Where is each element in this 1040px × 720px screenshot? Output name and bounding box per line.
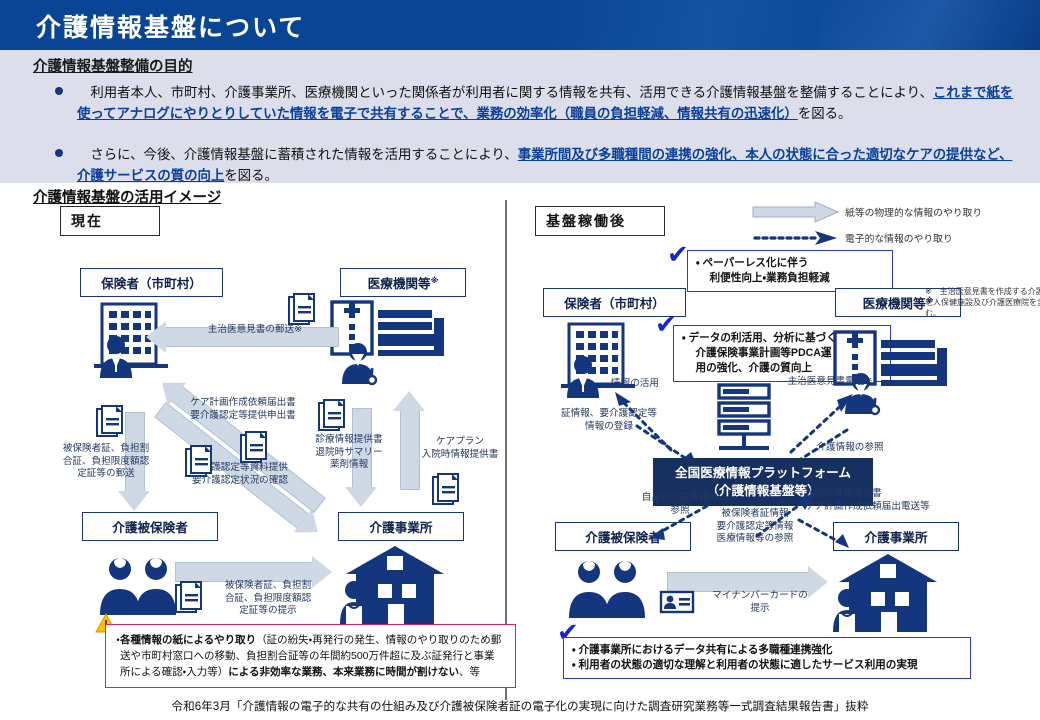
document-stack-icon bbox=[318, 398, 348, 434]
callout-paperless-line2: 利便性向上・業務負担軽減 bbox=[696, 271, 884, 286]
purpose-bullet-1-text: 利用者本人、市町村、介護事業所、医療機関といった関係者が利用者に関する情報を共有… bbox=[77, 83, 1020, 124]
purpose-heading: 介護情報基盤整備の目的 bbox=[33, 55, 193, 76]
callout-benefits-line2: ・ 利用者の状態の適切な理解と利用者の状態に適したサービス利用の実現 bbox=[572, 658, 962, 673]
platform-line1: 全国医療情報プラットフォーム bbox=[663, 464, 863, 482]
document-stack-icon bbox=[432, 472, 462, 508]
document-stack-icon bbox=[288, 292, 318, 328]
phase-label-current: 現在 bbox=[60, 206, 160, 236]
bullet-dot-icon bbox=[55, 87, 63, 95]
label-register-info: 証情報、要介護認定等 情報の登録 bbox=[539, 408, 679, 433]
label-hospital-info: 入院時情報提供書 ケア計画作成依頼届出電送等 bbox=[805, 488, 1025, 513]
label-care-info-reference: 介護情報の参照 bbox=[785, 442, 915, 455]
label-info-use: 情報の活用 bbox=[585, 378, 685, 391]
label-mynumber-present: マイナンバーカードの 提示 bbox=[695, 590, 825, 615]
callout-paperless-line1: ・ ペーパーレス化に伴う bbox=[696, 256, 884, 271]
medical-footnote: ※ 主治医意見書を作成する介護老人保健施設及び介護医療院を含む。 bbox=[925, 286, 1040, 319]
care-facility-house-icon bbox=[340, 544, 450, 626]
callout-benefits-line1: ・ 介護事業所におけるデータ共有による多職種連携強化 bbox=[572, 643, 962, 658]
current-issues-box: ・ 各種情報の紙によるやり取り（証の紛失・再発行の発生、情報のやり取りのため郵送… bbox=[105, 624, 516, 688]
document-stack-icon bbox=[240, 430, 270, 466]
purpose-bullet-1: 利用者本人、市町村、介護事業所、医療機関といった関係者が利用者に関する情報を共有… bbox=[55, 83, 1020, 124]
entity-provider-left: 介護事業所 bbox=[338, 512, 464, 541]
bullet-dot-icon bbox=[55, 149, 63, 157]
purpose-bullet-2-text: さらに、今後、介護情報基盤に蓄積された情報を活用することにより、事業所間及び多職… bbox=[77, 145, 1020, 186]
slide-header: 介護情報基盤について bbox=[0, 0, 1040, 50]
arrow-doctor-opinion-send bbox=[765, 378, 885, 470]
left-panel-current: 現在 保険者（市町村） 医療機関等※ 介護被保険者 介護事業所 bbox=[20, 200, 505, 700]
insured-persons-icon bbox=[567, 558, 653, 620]
label-cert-reference: 被保険者証情報 要介護認定等情報 医療情報等の参照 bbox=[687, 508, 823, 546]
right-panel-after: 基盤稼働後 ✔ ・ ペーパーレス化に伴う 利便性向上・業務負担軽減 保険者（市町… bbox=[515, 200, 1030, 700]
phase-label-after: 基盤稼働後 bbox=[535, 206, 665, 236]
hospital-building-icon bbox=[330, 298, 450, 386]
purpose-panel: 介護情報基盤整備の目的 利用者本人、市町村、介護事業所、医療機関といった関係者が… bbox=[0, 50, 1040, 185]
label-care-plan: ケアプラン 入院時情報提供書 bbox=[410, 436, 510, 461]
label-medical-docs: 診療情報提供書 退院時サマリー 薬剤情報 bbox=[302, 434, 396, 472]
list-bullet-icon: ・ bbox=[112, 632, 124, 648]
arrow-certificate-present bbox=[175, 562, 313, 582]
label-care-plan-request: ケア計画作成依頼届出書 要介護認定等提供申出書 bbox=[153, 397, 333, 422]
source-footer: 令和6年3月「介護情報の電子的な共有の仕組み及び介護被保険者証の電子化の実現に向… bbox=[0, 698, 1040, 714]
entity-medical-left: 医療機関等※ bbox=[340, 268, 466, 297]
mynumber-card-icon bbox=[660, 590, 694, 614]
document-stack-icon bbox=[96, 404, 126, 440]
current-issues-text: 各種情報の紙によるやり取り（証の紛失・再発行の発生、情報のやり取りのため郵送や市… bbox=[120, 634, 501, 678]
document-stack-icon bbox=[185, 444, 215, 480]
label-doctor-opinion-send: 主治医意見書電送※ bbox=[755, 376, 905, 389]
document-stack-icon bbox=[175, 580, 205, 616]
purpose-bullet-2: さらに、今後、介護情報基盤に蓄積された情報を活用することにより、事業所間及び多職… bbox=[55, 145, 1020, 186]
page-title: 介護情報基盤について bbox=[36, 8, 305, 44]
entity-insured-left: 介護被保険者 bbox=[82, 512, 218, 541]
arrow-mynumber-present bbox=[667, 572, 809, 592]
insured-persons-icon bbox=[98, 555, 184, 617]
callout-paperless: ・ ペーパーレス化に伴う 利便性向上・業務負担軽減 bbox=[687, 250, 893, 292]
callout-benefits: ・ 介護事業所におけるデータ共有による多職種連携強化 ・ 利用者の状態の適切な理… bbox=[563, 637, 971, 679]
check-mark-icon: ✔ bbox=[667, 242, 689, 268]
entity-insurer-left: 保険者（市町村） bbox=[80, 268, 223, 297]
label-certificate-present: 被保険者証、負担割 合証、負担限度額認 定証等の提示 bbox=[208, 580, 328, 618]
care-facility-house-icon bbox=[833, 552, 943, 634]
label-certificate-mail: 被保険者証、負担割 合証、負担限度額認 定証等の郵送 bbox=[58, 443, 154, 481]
